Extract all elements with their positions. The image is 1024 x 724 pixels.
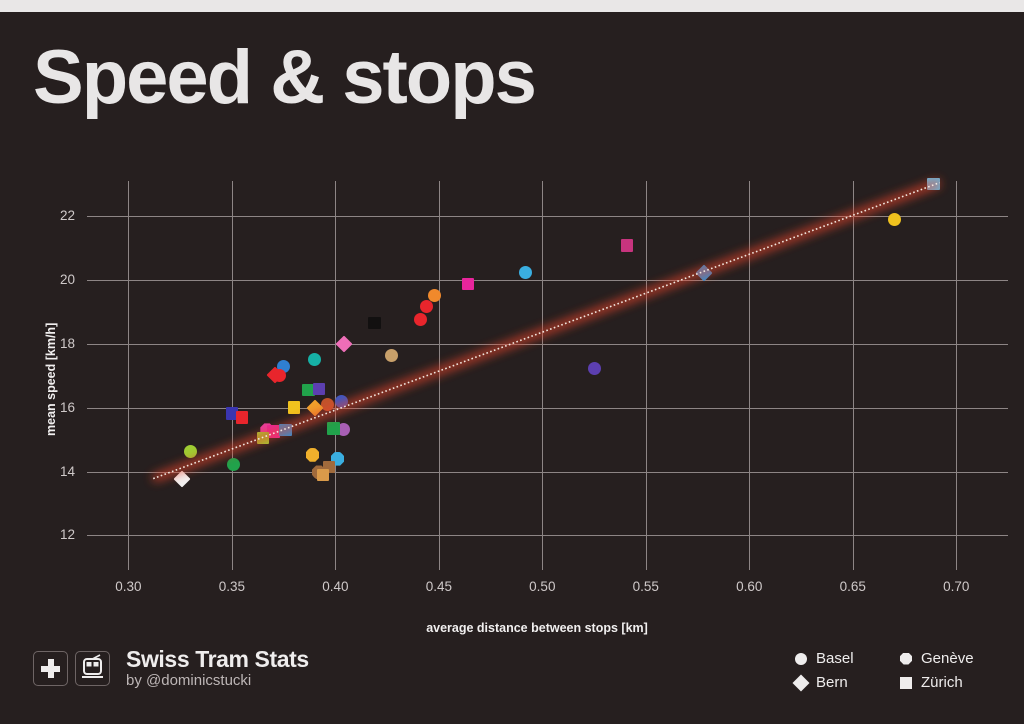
chart-legend: BaselGenèveBernZürich bbox=[795, 650, 1010, 691]
y-axis-title: mean speed [km/h] bbox=[44, 323, 58, 436]
x-tick-label: 0.55 bbox=[611, 579, 681, 594]
legend-label: Zürich bbox=[921, 674, 963, 691]
data-point-zürich bbox=[257, 432, 270, 445]
x-axis-title: average distance between stops [km] bbox=[237, 621, 837, 635]
footer-brand: Swiss Tram Stats by @dominicstucki bbox=[33, 648, 309, 688]
x-tick-label: 0.45 bbox=[404, 579, 474, 594]
x-tick bbox=[335, 561, 336, 570]
chart-page: Speed & stops 0.300.350.400.450.500.550.… bbox=[0, 0, 1024, 724]
x-tick-label: 0.50 bbox=[507, 579, 577, 594]
legend-label: Genève bbox=[921, 650, 974, 667]
legend-item-basel[interactable]: Basel bbox=[795, 650, 900, 667]
data-point-basel bbox=[335, 395, 348, 408]
x-gridline bbox=[542, 181, 543, 561]
legend-label: Bern bbox=[816, 674, 848, 691]
x-gridline bbox=[646, 181, 647, 561]
y-gridline bbox=[87, 280, 1008, 281]
brand-name: Swiss Tram Stats bbox=[126, 648, 309, 671]
y-tick-label: 20 bbox=[35, 272, 75, 287]
x-tick bbox=[439, 561, 440, 570]
x-gridline bbox=[128, 181, 129, 561]
x-tick-label: 0.60 bbox=[714, 579, 784, 594]
data-point-bern bbox=[335, 335, 352, 352]
tram-icon bbox=[75, 651, 110, 686]
data-point-basel bbox=[420, 300, 433, 313]
x-gridline bbox=[853, 181, 854, 561]
data-point-basel bbox=[385, 349, 398, 362]
data-point-zürich bbox=[927, 178, 940, 191]
data-point-basel bbox=[308, 353, 321, 366]
x-tick-label: 0.30 bbox=[93, 579, 163, 594]
y-tick-label: 12 bbox=[35, 527, 75, 542]
legend-item-genève[interactable]: Genève bbox=[900, 650, 1010, 667]
x-gridline bbox=[749, 181, 750, 561]
data-point-basel bbox=[227, 458, 240, 471]
octagon-icon bbox=[900, 653, 912, 665]
square-icon bbox=[900, 677, 912, 689]
diamond-icon bbox=[793, 674, 810, 691]
y-tick-label: 22 bbox=[35, 208, 75, 223]
data-point-zürich bbox=[236, 411, 249, 424]
data-point-zürich bbox=[368, 317, 381, 330]
x-tick bbox=[749, 561, 750, 570]
data-point-basel bbox=[184, 445, 197, 458]
data-point-zürich bbox=[288, 401, 301, 414]
x-tick bbox=[128, 561, 129, 570]
y-gridline bbox=[87, 344, 1008, 345]
data-point-basel bbox=[519, 266, 532, 279]
y-gridline bbox=[87, 472, 1008, 473]
x-tick bbox=[232, 561, 233, 570]
data-point-basel bbox=[588, 362, 601, 375]
data-point-basel bbox=[321, 398, 334, 411]
x-tick bbox=[956, 561, 957, 570]
legend-label: Basel bbox=[816, 650, 854, 667]
x-tick-label: 0.65 bbox=[818, 579, 888, 594]
x-tick-label: 0.40 bbox=[300, 579, 370, 594]
legend-item-zürich[interactable]: Zürich bbox=[900, 674, 1010, 691]
data-point-zürich bbox=[279, 424, 292, 437]
x-tick bbox=[542, 561, 543, 570]
data-point-zürich bbox=[313, 383, 326, 396]
swiss-cross-icon bbox=[33, 651, 68, 686]
scatter-plot: 0.300.350.400.450.500.550.600.650.701214… bbox=[0, 0, 1024, 724]
data-point-zürich bbox=[327, 422, 340, 435]
x-gridline bbox=[439, 181, 440, 561]
legend-item-bern[interactable]: Bern bbox=[795, 674, 900, 691]
data-point-basel bbox=[888, 213, 901, 226]
data-point-bern bbox=[174, 470, 191, 487]
y-gridline bbox=[87, 216, 1008, 217]
x-tick-label: 0.70 bbox=[921, 579, 991, 594]
x-tick bbox=[853, 561, 854, 570]
brand-byline: by @dominicstucki bbox=[126, 673, 309, 688]
data-point-zürich bbox=[462, 278, 475, 291]
x-tick-label: 0.35 bbox=[197, 579, 267, 594]
x-tick bbox=[646, 561, 647, 570]
x-gridline bbox=[232, 181, 233, 561]
data-point-basel bbox=[414, 313, 427, 326]
y-tick-label: 14 bbox=[35, 464, 75, 479]
data-point-zürich bbox=[317, 469, 330, 482]
data-point-bern bbox=[695, 264, 712, 281]
circle-icon bbox=[795, 653, 807, 665]
x-gridline bbox=[956, 181, 957, 561]
data-point-zürich bbox=[621, 239, 634, 252]
y-gridline bbox=[87, 535, 1008, 536]
x-gridline bbox=[335, 181, 336, 561]
